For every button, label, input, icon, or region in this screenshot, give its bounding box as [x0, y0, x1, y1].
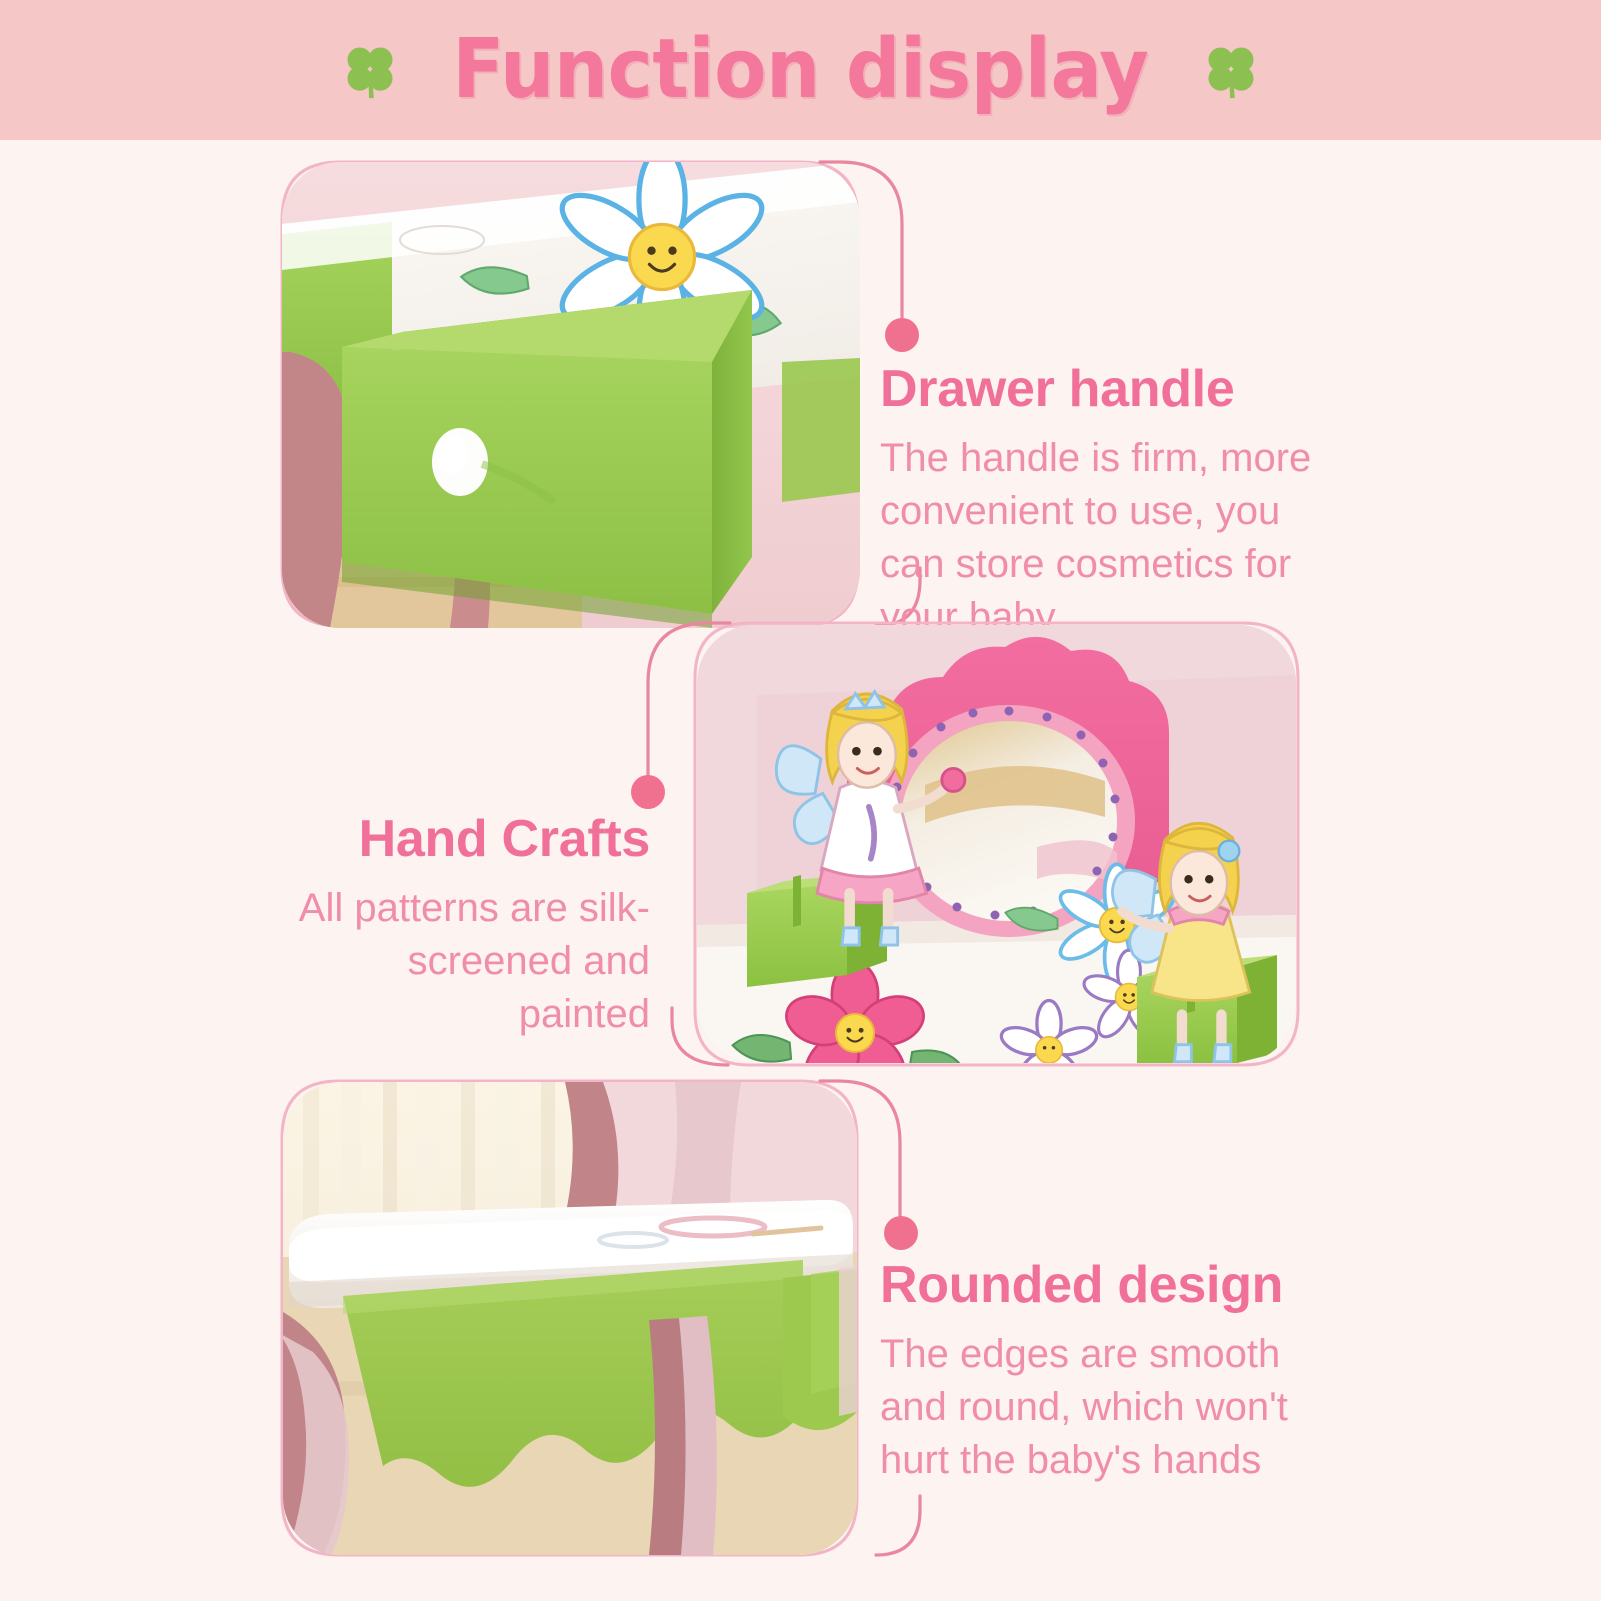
function-display-page: Function display: [0, 0, 1601, 1601]
photo-drawer-handle: [282, 162, 860, 628]
feature-body: All patterns are silk-screened and paint…: [270, 882, 650, 1040]
feature-card-drawer-handle: Drawer handle The handle is firm, more c…: [280, 160, 1350, 620]
photo-rounded-design: [283, 1082, 857, 1555]
feature-body: The handle is firm, more convenient to u…: [880, 432, 1320, 643]
feature-card-rounded-design: Rounded design The edges are smooth and …: [280, 1078, 1350, 1568]
feature-body: The edges are smooth and round, which wo…: [880, 1328, 1320, 1486]
photo-hand-crafts: [697, 625, 1296, 1063]
connector-dot: [885, 318, 919, 352]
page-title: Function display: [452, 29, 1148, 111]
feature-text-hand-crafts: Hand Crafts All patterns are silk-screen…: [270, 810, 650, 1041]
feature-text-drawer-handle: Drawer handle The handle is firm, more c…: [880, 360, 1320, 643]
feature-card-hand-crafts: Hand Crafts All patterns are silk-screen…: [260, 620, 1300, 1070]
feature-text-rounded-design: Rounded design The edges are smooth and …: [880, 1256, 1320, 1487]
clover-icon: [340, 39, 400, 101]
feature-heading: Drawer handle: [880, 360, 1320, 418]
connector-dot: [631, 775, 665, 809]
page-header: Function display: [0, 0, 1601, 140]
clover-icon: [1201, 39, 1261, 101]
feature-heading: Hand Crafts: [270, 810, 650, 868]
feature-heading: Rounded design: [880, 1256, 1320, 1314]
connector-dot: [884, 1216, 918, 1250]
